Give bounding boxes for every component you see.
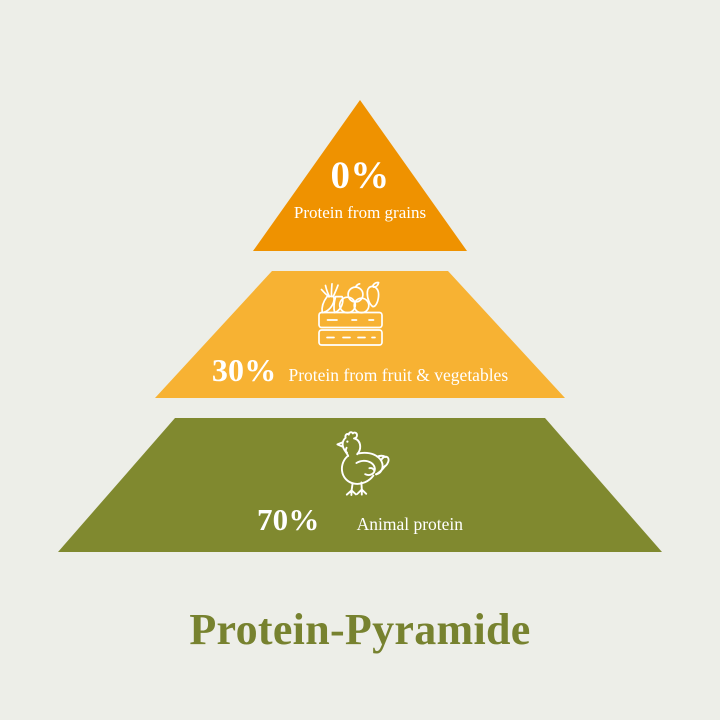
chicken-icon	[325, 428, 397, 500]
tier-fruit-vegetables-label: Protein from fruit & vegetables	[288, 364, 508, 386]
page-title: Protein-Pyramide	[0, 602, 720, 658]
tier-fruit-vegetables-percent: 30%	[212, 353, 277, 387]
pyramid-chart: 0% Protein from grains	[0, 0, 720, 580]
tier-grains-label: Protein from grains	[294, 202, 426, 224]
tier-grains-text-group: 0% Protein from grains	[0, 155, 720, 224]
tier-animal-protein-label: Animal protein	[357, 513, 463, 535]
tier-fruit-vegetables-text-group: 30% Protein from fruit & vegetables	[0, 353, 720, 387]
vegetable-crate-icon	[311, 281, 391, 347]
protein-pyramid-infographic: 0% Protein from grains	[0, 0, 720, 720]
tier-animal-protein-text-group: 70% Animal protein	[0, 503, 720, 537]
tier-grains-percent: 0%	[331, 155, 390, 197]
tier-animal-protein-percent: 70%	[257, 503, 320, 537]
